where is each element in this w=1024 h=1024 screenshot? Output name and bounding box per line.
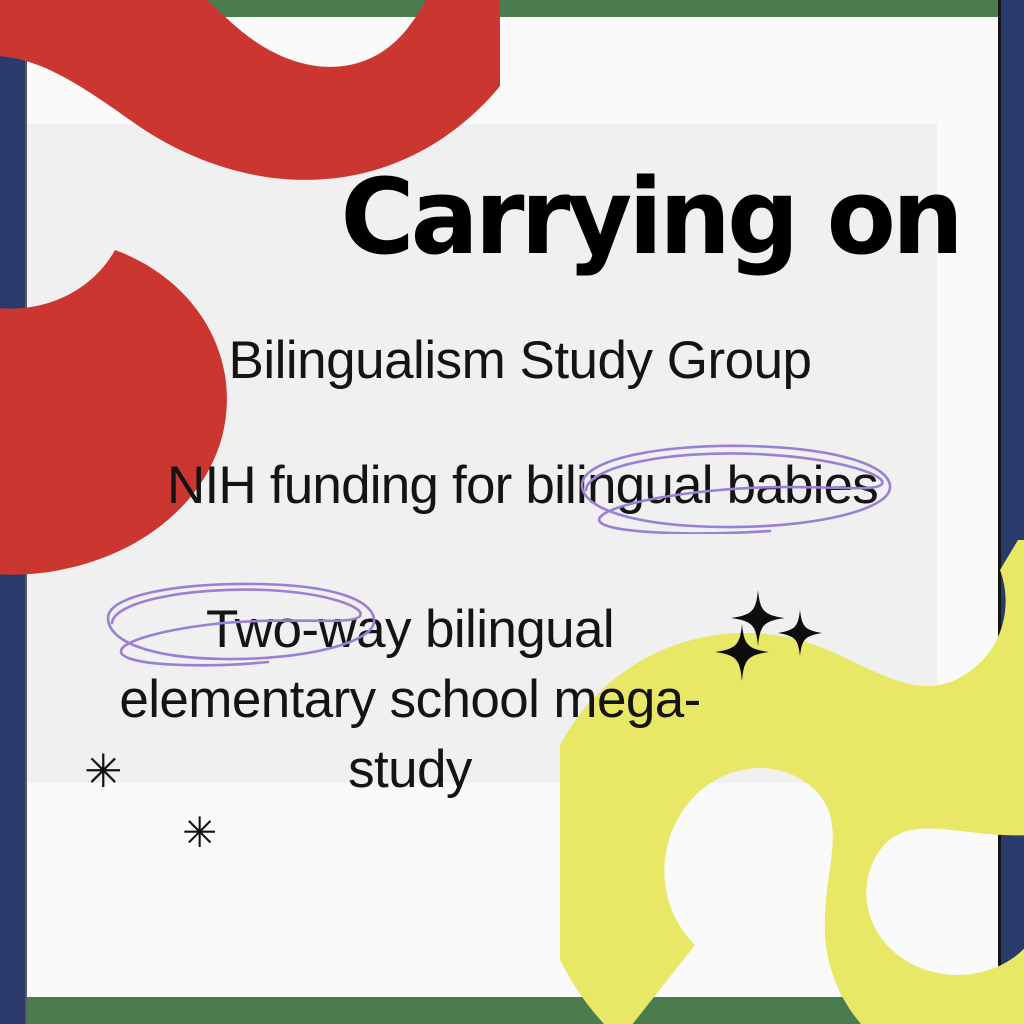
bullet-mega-study-line-2: elementary school mega- bbox=[60, 665, 760, 735]
sparkles-icon bbox=[712, 588, 830, 683]
text-layer: Carrying on Bilingualism Study Group NIH… bbox=[0, 0, 1024, 1024]
bullet-mega-study-line-3: study bbox=[60, 735, 760, 805]
slide-title: Carrying on bbox=[29, 165, 960, 269]
bullet-mega-study-line-1: Two-way bilingual bbox=[60, 595, 760, 665]
bullet-nih-funding: NIH funding for bilingual babies bbox=[40, 455, 1005, 516]
bullet-mega-study: Two-way bilingual elementary school mega… bbox=[60, 595, 760, 805]
asterisk-decoration-2: ✳ bbox=[182, 812, 217, 854]
slide-canvas: Carrying on Bilingualism Study Group NIH… bbox=[0, 0, 1024, 1024]
asterisk-decoration-1: ✳ bbox=[84, 748, 123, 794]
slide-subtitle: Bilingualism Study Group bbox=[40, 330, 1000, 391]
